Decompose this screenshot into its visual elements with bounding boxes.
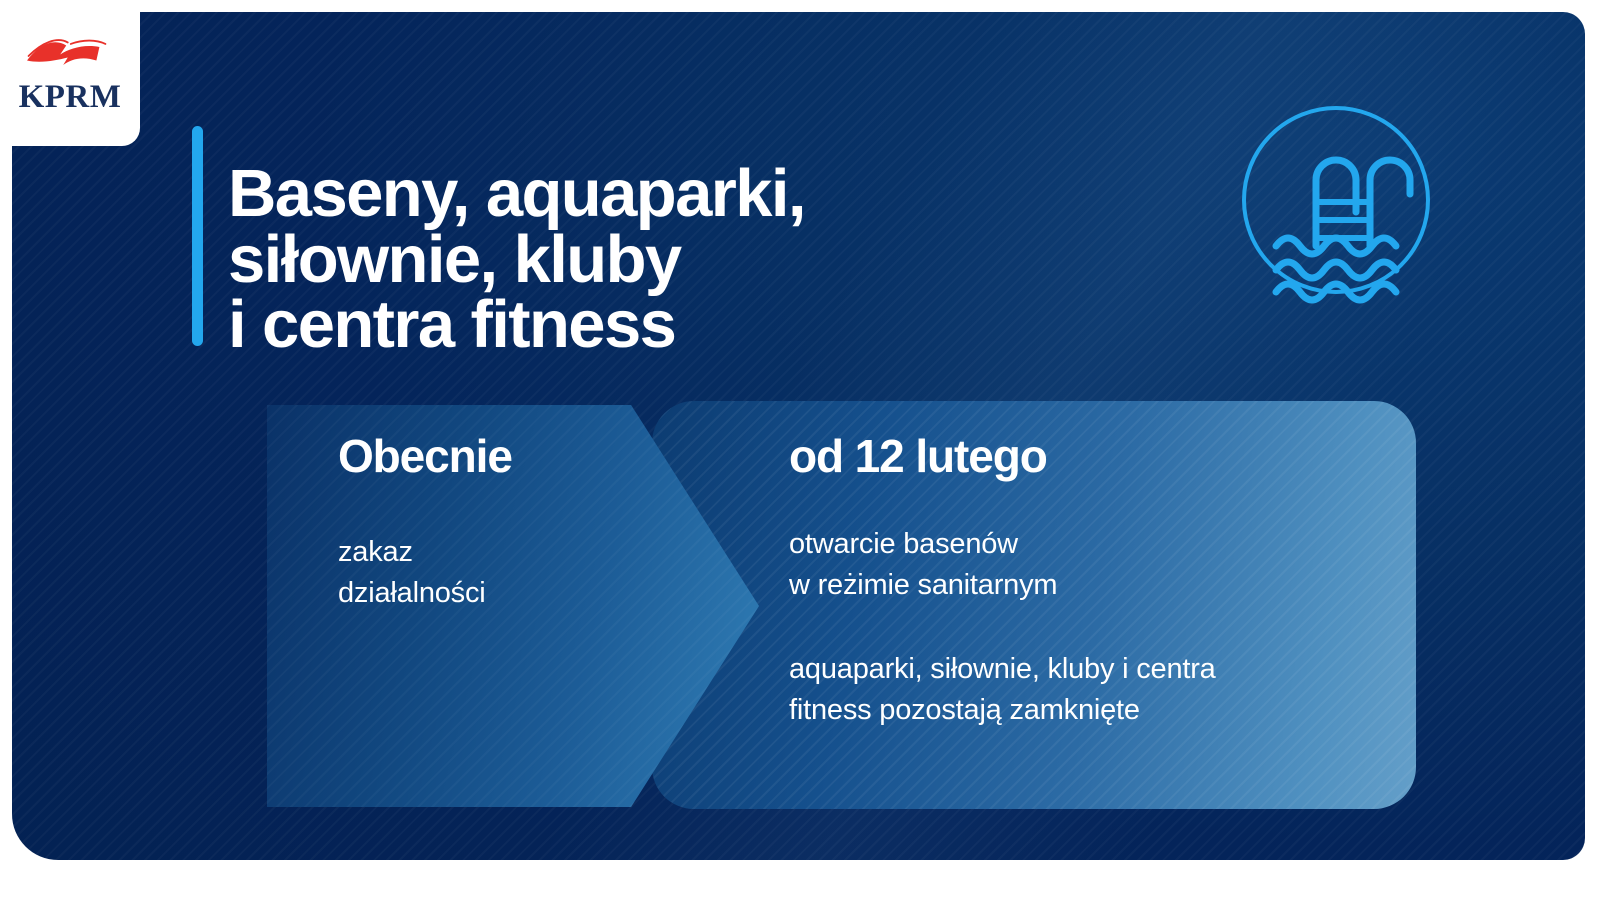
kprm-wordmark: KPRM [19, 81, 122, 114]
swimming-pool-icon [1230, 94, 1442, 306]
current-heading: Obecnie [338, 432, 668, 480]
polish-flag-emblem [21, 33, 119, 79]
current-column: Obecnie zakaz działalności [338, 432, 668, 615]
infographic-stage: Baseny, aquaparki, siłownie, kluby i cen… [0, 0, 1600, 900]
current-body: zakaz działalności [338, 532, 668, 614]
upcoming-body-closed: aquaparki, siłownie, kluby i centra fitn… [789, 649, 1399, 731]
page-title: Baseny, aquaparki, siłownie, kluby i cen… [228, 161, 1108, 358]
upcoming-heading: od 12 lutego [789, 432, 1399, 480]
title-accent-bar [192, 126, 203, 346]
poster-canvas: Baseny, aquaparki, siłownie, kluby i cen… [12, 12, 1585, 860]
upcoming-body-open: otwarcie basenów w reżimie sanitarnym [789, 524, 1399, 606]
upcoming-column: od 12 lutego otwarcie basenów w reżimie … [789, 432, 1399, 731]
kprm-logo: KPRM [0, 0, 140, 146]
